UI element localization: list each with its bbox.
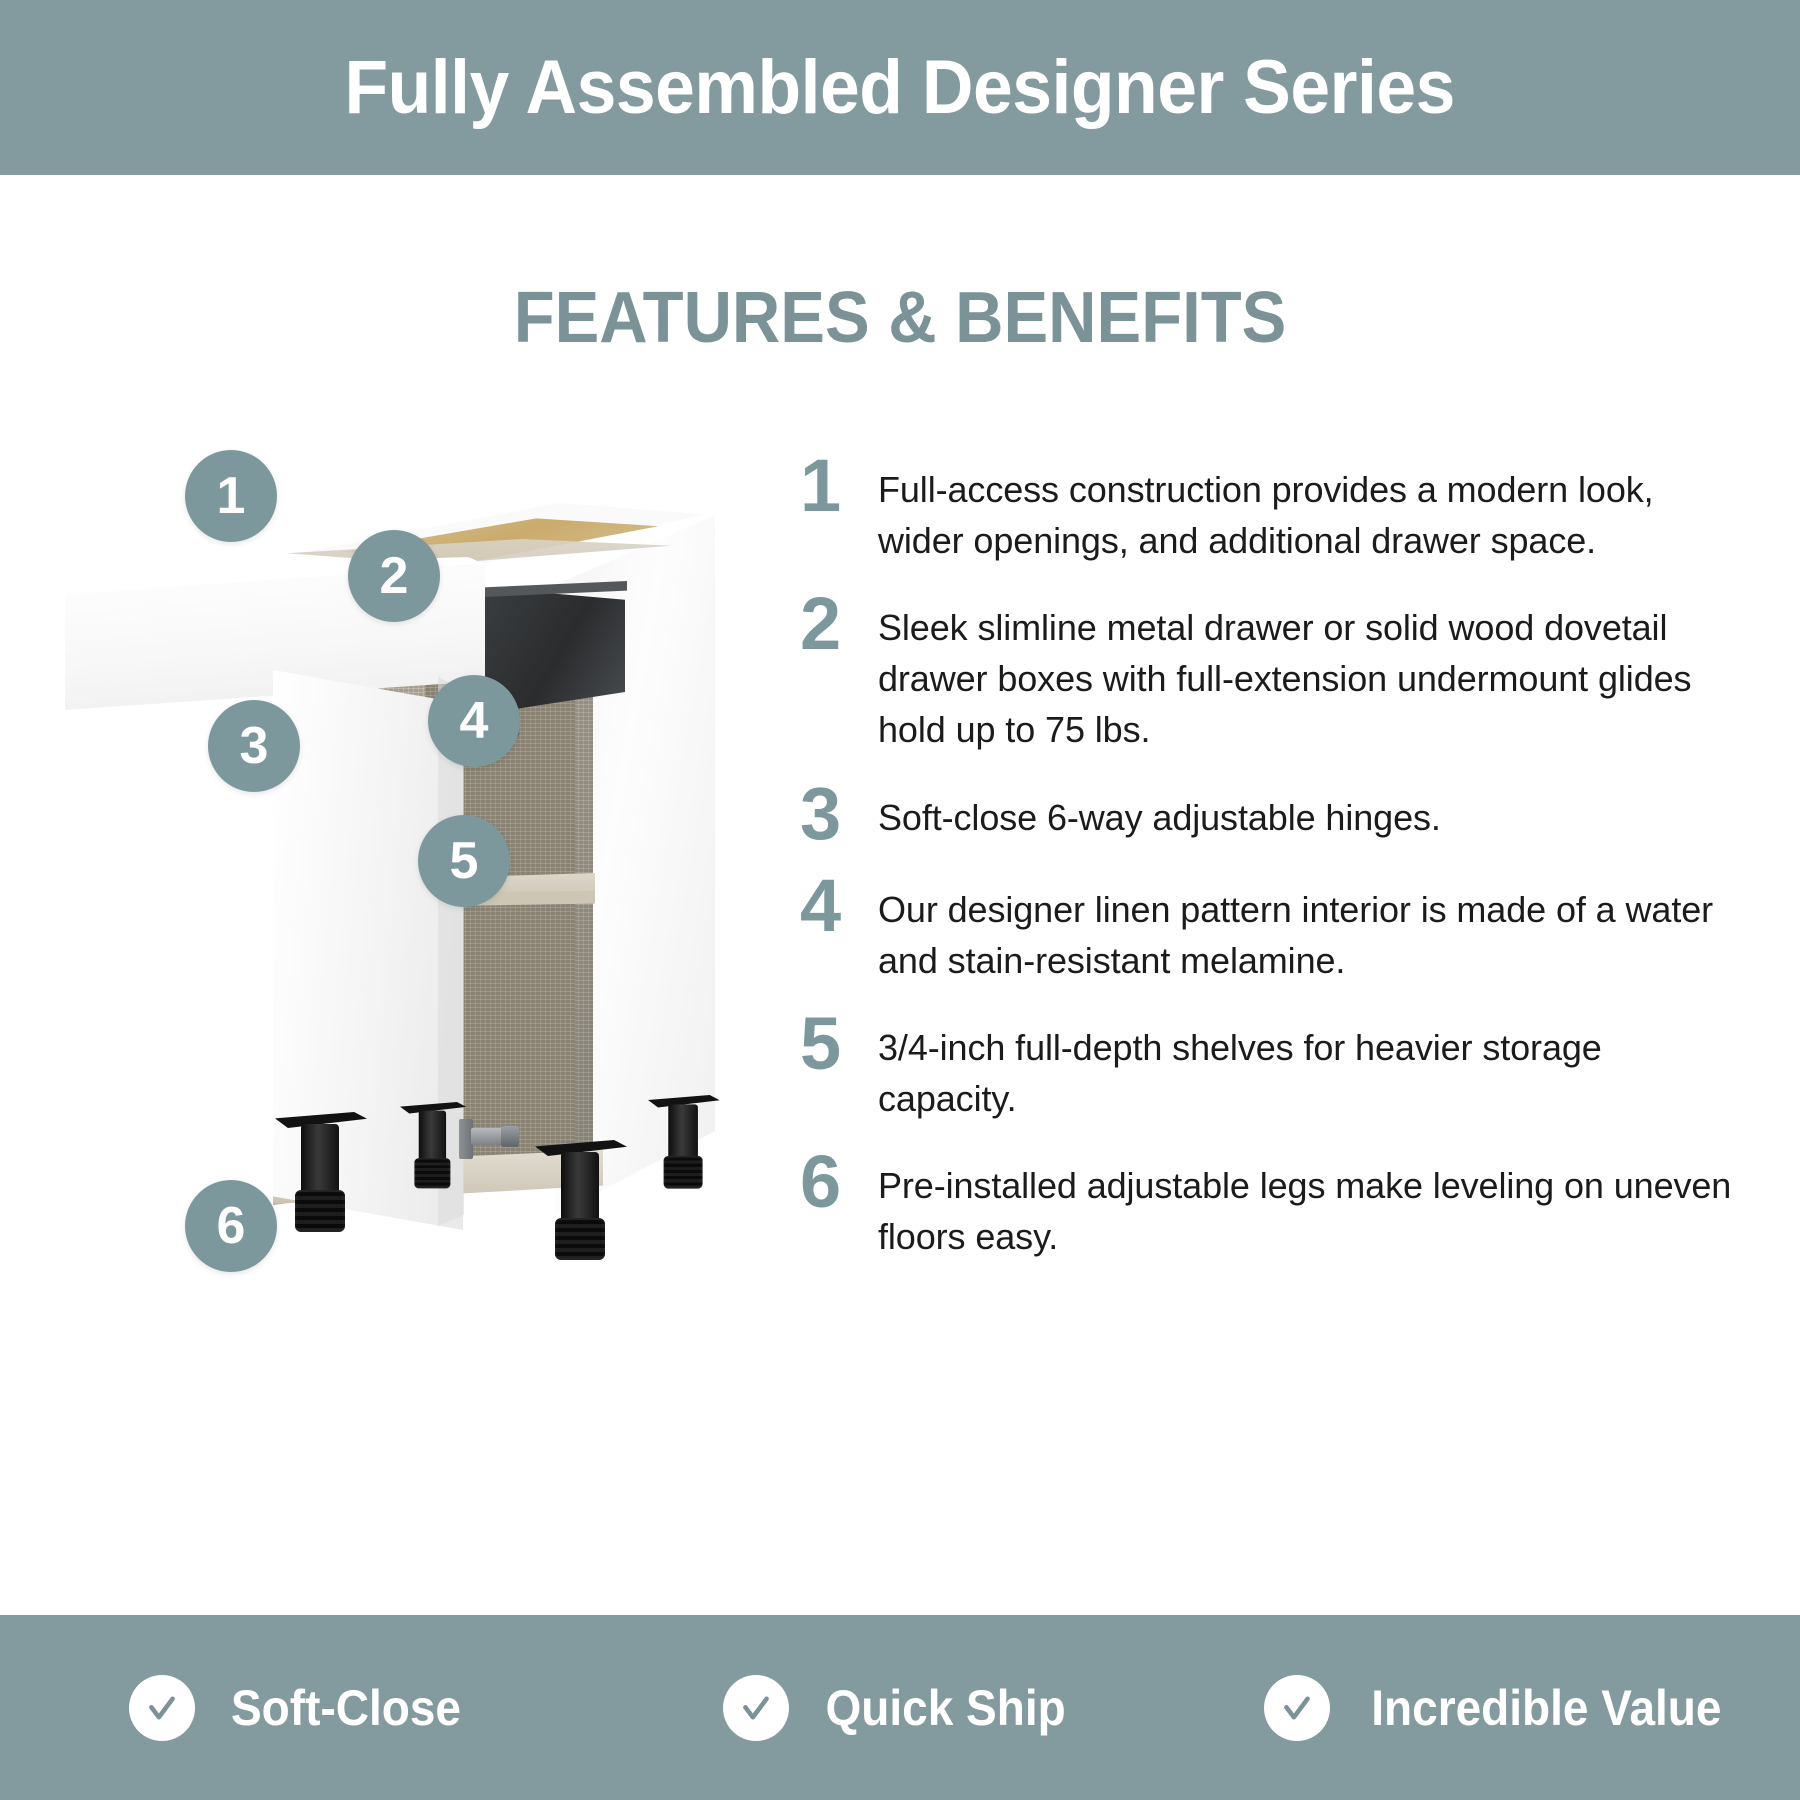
check-circle-icon xyxy=(129,1675,195,1741)
feature-number: 6 xyxy=(800,1146,878,1216)
feature-item-6: 6 Pre-installed adjustable legs make lev… xyxy=(800,1146,1740,1262)
callout-marker-3[interactable]: 3 xyxy=(208,700,300,792)
callout-marker-4[interactable]: 4 xyxy=(428,675,520,767)
callout-marker-2[interactable]: 2 xyxy=(348,530,440,622)
page-title: Fully Assembled Designer Series xyxy=(345,50,1455,126)
feature-description: 3/4-inch full-depth shelves for heavier … xyxy=(878,1008,1740,1124)
features-list: 1 Full-access construction provides a mo… xyxy=(800,450,1740,1284)
callout-marker-6[interactable]: 6 xyxy=(185,1180,277,1272)
footer-badge-incredible-value: Incredible Value xyxy=(1200,1675,1800,1741)
footer-badge-label: Quick Ship xyxy=(826,1683,1066,1733)
feature-description: Soft-close 6-way adjustable hinges. xyxy=(878,778,1740,843)
feature-description: Full-access construction provides a mode… xyxy=(878,450,1740,566)
leg-post xyxy=(668,1104,698,1162)
feature-number: 3 xyxy=(800,778,878,848)
footer-badge-label: Soft-Close xyxy=(231,1683,461,1733)
feature-number: 1 xyxy=(800,450,878,520)
footer-bar: Soft-Close Quick Ship Incredible Value xyxy=(0,1615,1800,1800)
soft-close-hinge-bottom xyxy=(459,1115,521,1161)
footer-badge-quick-ship: Quick Ship xyxy=(600,1675,1200,1741)
leg-post xyxy=(561,1152,599,1226)
footer-badge-soft-close: Soft-Close xyxy=(0,1675,600,1741)
callout-marker-5[interactable]: 5 xyxy=(418,815,510,907)
check-circle-icon xyxy=(723,1675,789,1741)
check-circle-icon xyxy=(1264,1675,1330,1741)
header-bar: Fully Assembled Designer Series xyxy=(0,0,1800,175)
feature-description: Our designer linen pattern interior is m… xyxy=(878,870,1740,986)
leg-adjustment-collar xyxy=(414,1158,450,1188)
feature-number: 4 xyxy=(800,870,878,940)
hinge-cup xyxy=(501,1126,519,1147)
feature-item-3: 3 Soft-close 6-way adjustable hinges. xyxy=(800,778,1740,848)
footer-badge-label: Incredible Value xyxy=(1371,1683,1721,1733)
leg-adjustment-collar xyxy=(664,1156,703,1189)
feature-description: Pre-installed adjustable legs make level… xyxy=(878,1146,1740,1262)
feature-description: Sleek slimline metal drawer or solid woo… xyxy=(878,588,1740,755)
callout-marker-1[interactable]: 1 xyxy=(185,450,277,542)
feature-item-2: 2 Sleek slimline metal drawer or solid w… xyxy=(800,588,1740,755)
leg-adjustment-collar xyxy=(555,1218,605,1260)
feature-number: 5 xyxy=(800,1008,878,1078)
feature-item-5: 5 3/4-inch full-depth shelves for heavie… xyxy=(800,1008,1740,1124)
leg-post xyxy=(301,1124,339,1198)
leg-post xyxy=(419,1111,446,1164)
section-heading: FEATURES & BENEFITS xyxy=(63,282,1737,354)
leg-adjustment-collar xyxy=(295,1190,345,1232)
feature-item-4: 4 Our designer linen pattern interior is… xyxy=(800,870,1740,986)
feature-item-1: 1 Full-access construction provides a mo… xyxy=(800,450,1740,566)
feature-number: 2 xyxy=(800,588,878,658)
